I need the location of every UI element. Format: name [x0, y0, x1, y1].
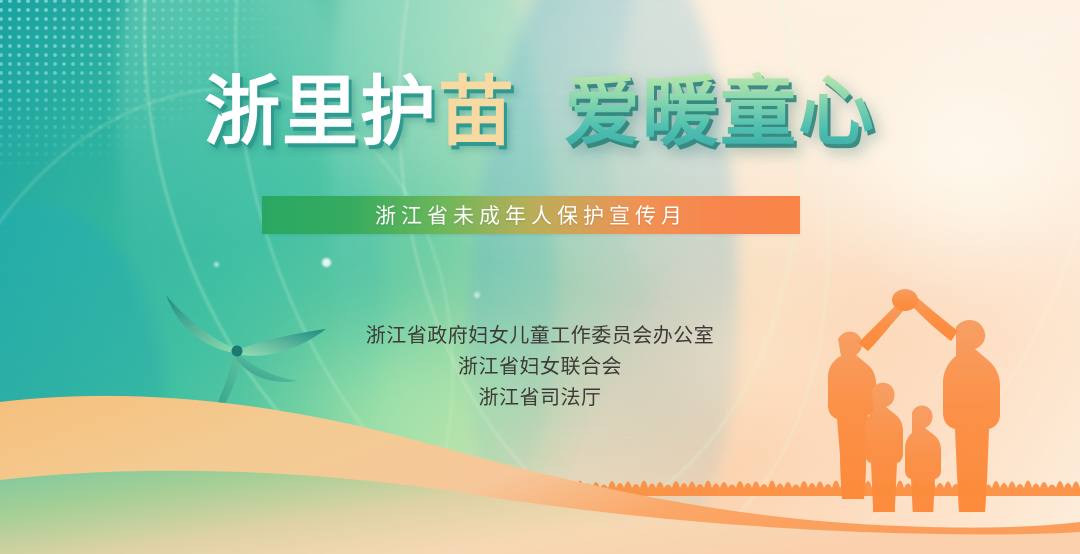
sparkle-dot-4	[218, 496, 230, 508]
organization-list: 浙江省政府妇女儿童工作委员会办公室 浙江省妇女联合会 浙江省司法厅	[0, 320, 1080, 413]
title-part-3: 爱暖童心	[564, 67, 876, 156]
organization-line: 浙江省政府妇女儿童工作委员会办公室	[0, 320, 1080, 351]
sparkle-dot-3	[474, 292, 480, 298]
subtitle-banner: 浙江省未成年人保护宣传月	[262, 196, 800, 234]
organization-line: 浙江省司法厅	[0, 382, 1080, 413]
background-blade-shape-right	[587, 0, 953, 356]
main-title: 浙里护苗爱暖童心	[0, 74, 1080, 150]
title-part-1: 浙里护	[204, 67, 438, 156]
grass-icon	[520, 470, 1080, 496]
sparkle-dot-1	[322, 258, 331, 267]
sparkle-dot-2	[214, 262, 219, 267]
title-part-2: 苗	[438, 67, 516, 156]
subtitle-banner-text: 浙江省未成年人保护宣传月	[375, 200, 687, 230]
organization-line: 浙江省妇女联合会	[0, 351, 1080, 382]
poster-canvas: 浙里护苗爱暖童心 浙江省未成年人保护宣传月 浙江省政府妇女儿童工作委员会办公室 …	[0, 0, 1080, 554]
